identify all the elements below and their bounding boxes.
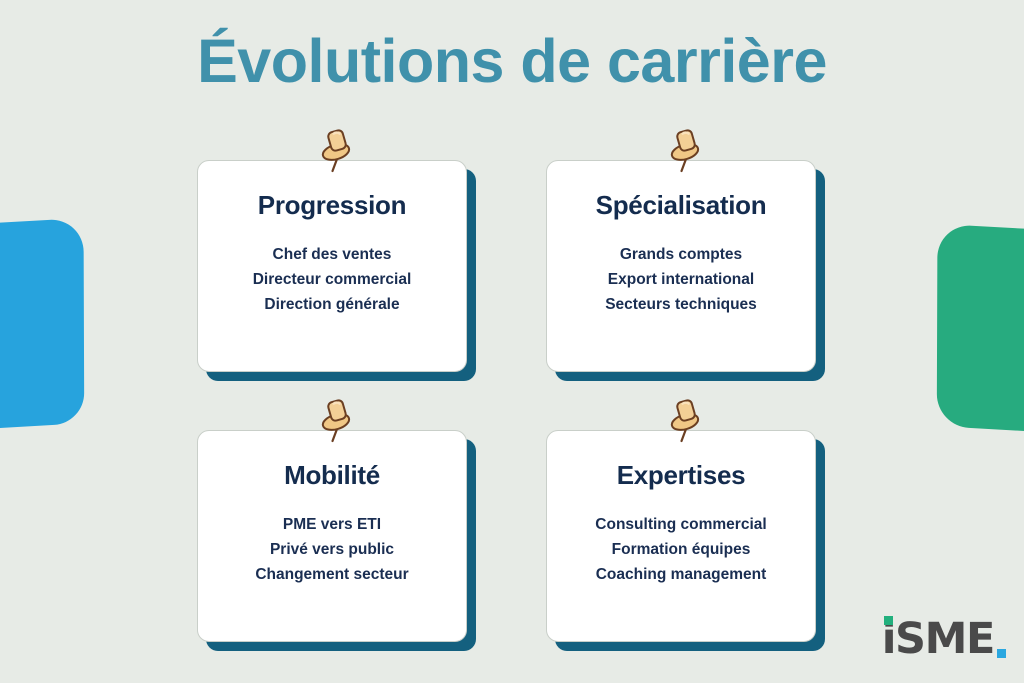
list-item: Export international <box>605 267 757 292</box>
card-title: Mobilité <box>284 461 380 490</box>
push-pin-icon <box>316 127 356 175</box>
list-item: Secteurs techniques <box>605 292 757 317</box>
list-item: Directeur commercial <box>253 267 412 292</box>
card-title: Progression <box>258 191 406 220</box>
list-item: Coaching management <box>595 562 766 587</box>
card-mobilite: Mobilité PME vers ETI Privé vers public … <box>197 430 467 642</box>
card-item-list: Chef des ventes Directeur commercial Dir… <box>253 242 412 317</box>
card-item-list: Consulting commercial Formation équipes … <box>595 512 766 587</box>
infographic-canvas: Évolutions de carrière Progression Chef … <box>0 0 1024 683</box>
push-pin-icon <box>665 397 705 445</box>
list-item: Direction générale <box>253 292 412 317</box>
logo-period-icon <box>997 649 1006 658</box>
list-item: Grands comptes <box>605 242 757 267</box>
list-item: Consulting commercial <box>595 512 766 537</box>
card-item-list: PME vers ETI Privé vers public Changemen… <box>255 512 408 587</box>
list-item: Chef des ventes <box>253 242 412 267</box>
blue-rounded-shape <box>0 218 84 431</box>
logo-i-dot-icon <box>884 616 893 625</box>
push-pin-icon <box>665 127 705 175</box>
card-body: Expertises Consulting commercial Formati… <box>546 430 816 642</box>
card-body: Spécialisation Grands comptes Export int… <box>546 160 816 372</box>
card-title: Expertises <box>617 461 746 490</box>
list-item: Formation équipes <box>595 537 766 562</box>
card-progression: Progression Chef des ventes Directeur co… <box>197 160 467 372</box>
card-body: Mobilité PME vers ETI Privé vers public … <box>197 430 467 642</box>
page-title: Évolutions de carrière <box>0 26 1024 96</box>
list-item: PME vers ETI <box>255 512 408 537</box>
card-specialisation: Spécialisation Grands comptes Export int… <box>546 160 816 372</box>
green-rounded-shape <box>937 224 1024 434</box>
isme-logo: iSME <box>882 618 1006 661</box>
list-item: Changement secteur <box>255 562 408 587</box>
card-item-list: Grands comptes Export international Sect… <box>605 242 757 317</box>
card-expertises: Expertises Consulting commercial Formati… <box>546 430 816 642</box>
list-item: Privé vers public <box>255 537 408 562</box>
card-body: Progression Chef des ventes Directeur co… <box>197 160 467 372</box>
logo-wordmark: iSME <box>882 618 994 661</box>
card-title: Spécialisation <box>596 191 767 220</box>
push-pin-icon <box>316 397 356 445</box>
